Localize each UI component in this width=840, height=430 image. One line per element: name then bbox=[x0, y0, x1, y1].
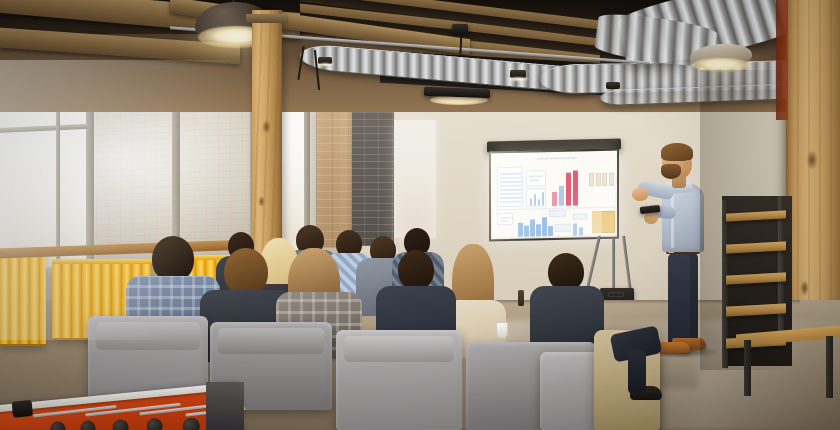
slide-label-table bbox=[497, 162, 498, 164]
office-presentation-scene: Quarterly Performance Dashboard bbox=[0, 0, 840, 430]
slide-bar-chart-region bbox=[571, 217, 587, 235]
table-row bbox=[500, 197, 522, 200]
track-spot-glow-3 bbox=[506, 76, 530, 82]
slide-bottom-label bbox=[497, 213, 513, 225]
ceiling-junction-box bbox=[452, 24, 468, 34]
painted-brick-wall bbox=[350, 96, 394, 246]
sofa-block-3-cushion bbox=[344, 336, 454, 362]
column-knot-1 bbox=[262, 120, 271, 134]
bar-q3 bbox=[566, 173, 571, 206]
presenter-hand-holding bbox=[644, 212, 658, 224]
projection-screen[interactable]: Quarterly Performance Dashboard bbox=[489, 149, 619, 242]
bar-feb bbox=[524, 226, 529, 237]
bar-q1 bbox=[552, 192, 557, 206]
presenter-hand-open bbox=[631, 187, 649, 202]
column-knot-r2 bbox=[800, 280, 809, 296]
slide-callout-1 bbox=[549, 210, 566, 217]
brick-wall-warm bbox=[316, 108, 352, 248]
window-pane-far bbox=[394, 120, 436, 238]
presenter-beard bbox=[661, 164, 681, 179]
slide-kpi-card bbox=[526, 170, 546, 186]
presenter-ear bbox=[684, 160, 691, 169]
bar-q2 bbox=[559, 186, 564, 206]
column-knot-r1 bbox=[806, 150, 818, 170]
slide-mini-bars bbox=[526, 188, 546, 206]
bar-jan bbox=[518, 223, 523, 237]
bar-q4 bbox=[573, 170, 578, 205]
sofa-block-2-cushion bbox=[218, 328, 324, 354]
track-spot-glow-2 bbox=[316, 62, 334, 67]
presenter-hair bbox=[661, 143, 693, 161]
slide-title: Quarterly Performance Dashboard bbox=[537, 158, 577, 161]
av-case-handle bbox=[608, 292, 624, 297]
bar-apr bbox=[536, 224, 541, 236]
track-spot-4 bbox=[606, 82, 620, 89]
bottle-on-table[interactable] bbox=[518, 290, 524, 306]
sofa-block-1-cushion bbox=[96, 322, 200, 350]
column-bracket bbox=[246, 14, 288, 23]
table-row bbox=[500, 181, 522, 184]
bar-may bbox=[542, 217, 547, 236]
table-row bbox=[500, 173, 522, 176]
slide-bar-chart-revenue bbox=[549, 167, 583, 206]
radiator-1 bbox=[0, 252, 46, 346]
foosball-end-panel bbox=[206, 382, 244, 430]
slide-dashboard: Quarterly Performance Dashboard bbox=[493, 153, 615, 238]
column-knot-2 bbox=[258, 196, 265, 207]
attendee-dark-jacket-head bbox=[398, 250, 434, 290]
bar-s bbox=[579, 227, 583, 235]
table-row bbox=[500, 189, 522, 192]
table-row bbox=[500, 185, 522, 188]
bar-jun bbox=[548, 226, 553, 236]
work-table-leg-2 bbox=[826, 336, 833, 398]
radiator-2-cap bbox=[52, 259, 152, 264]
foosball-corner-cap bbox=[12, 400, 33, 418]
slide-tile-grid bbox=[589, 173, 615, 192]
right-wall-shadow bbox=[700, 70, 790, 370]
bar-mar bbox=[530, 219, 535, 236]
table-row bbox=[500, 201, 522, 204]
bar-n bbox=[573, 224, 577, 236]
slide-highlight-overlay bbox=[592, 211, 602, 233]
slide-data-table bbox=[497, 167, 523, 208]
seated-leg-lower-right bbox=[628, 350, 646, 394]
table-row bbox=[500, 193, 522, 196]
presenter-shirt-placket bbox=[671, 190, 674, 248]
table-row bbox=[500, 177, 522, 180]
slide-callout-2 bbox=[555, 224, 571, 232]
timber-column-left bbox=[252, 10, 282, 262]
attendee-short-brown-head bbox=[224, 248, 268, 296]
presenter-leg-front bbox=[668, 252, 690, 346]
cup-on-sofa-arm[interactable] bbox=[496, 322, 508, 338]
